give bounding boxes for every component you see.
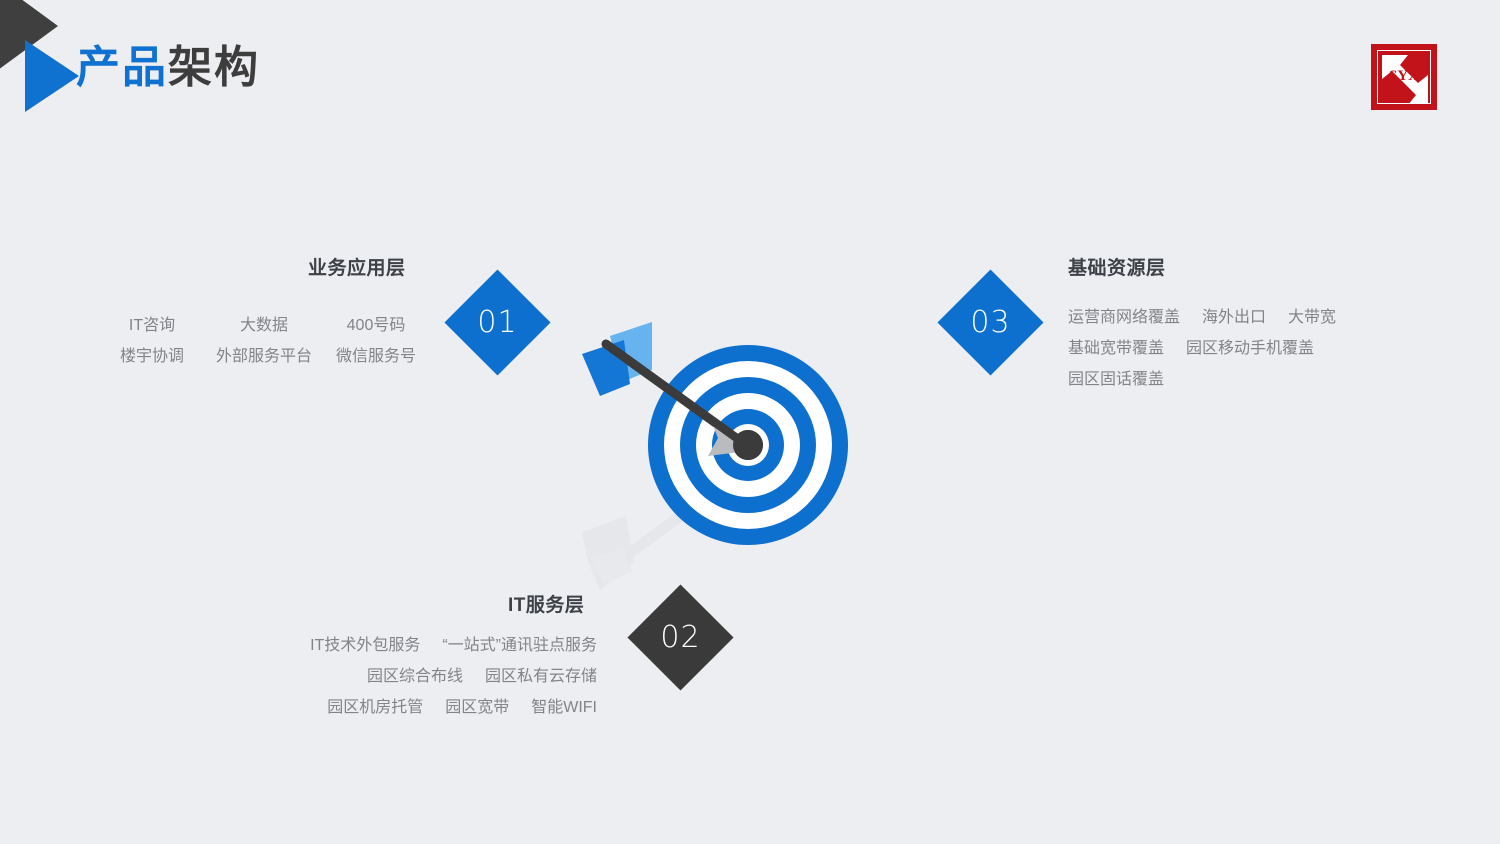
corner-decoration — [0, 0, 70, 130]
list-item: IT技术外包服务 — [310, 630, 420, 661]
item-row: 运营商网络覆盖海外出口大带宽 — [1068, 302, 1358, 333]
item-row: 园区综合布线园区私有云存储 — [197, 661, 597, 692]
list-item: 海外出口 — [1202, 302, 1266, 333]
section-title-01: 业务应用层 — [308, 253, 406, 280]
badge-diamond-01[interactable]: 01 — [444, 269, 550, 375]
list-item: 园区固话覆盖 — [1068, 364, 1164, 395]
logo-inner: SYX — [1377, 50, 1431, 104]
slide-root: 产品架构 SYX — [0, 0, 1500, 844]
list-item: 智能WIFI — [531, 692, 597, 723]
badge-diamond-03[interactable]: 03 — [937, 269, 1043, 375]
company-logo: SYX — [1371, 44, 1437, 110]
item-row: 楼宇协调外部服务平台微信服务号 — [96, 341, 432, 372]
list-item: 园区综合布线 — [367, 661, 463, 692]
list-item: 外部服务平台 — [208, 341, 320, 372]
target-bullseye — [733, 430, 763, 460]
list-item: IT咨询 — [96, 310, 208, 341]
badge-number-01: 01 — [460, 285, 535, 360]
list-item: 大数据 — [208, 310, 320, 341]
list-item: “一站式”通讯驻点服务 — [442, 630, 597, 661]
page-title-rest: 架构 — [168, 43, 260, 92]
list-item: 运营商网络覆盖 — [1068, 302, 1180, 333]
blue-triangle-icon — [25, 40, 79, 112]
list-item: 大带宽 — [1288, 302, 1336, 333]
badge-number-03: 03 — [953, 285, 1028, 360]
item-row: 园区固话覆盖 — [1068, 364, 1358, 395]
item-row: 园区机房托管园区宽带智能WIFI — [197, 692, 597, 723]
list-item: 园区移动手机覆盖 — [1186, 333, 1314, 364]
list-item: 园区宽带 — [445, 692, 509, 723]
page-title-accent: 产品 — [76, 43, 168, 92]
item-row: IT咨询大数据400号码 — [96, 310, 432, 341]
badge-diamond-02[interactable]: 02 — [627, 584, 733, 690]
logo-text: SYX — [1378, 68, 1430, 85]
arrow-fletching-icon — [582, 322, 652, 396]
list-item: 楼宇协调 — [96, 341, 208, 372]
section-items-02: IT技术外包服务“一站式”通讯驻点服务 园区综合布线园区私有云存储 园区机房托管… — [197, 630, 597, 723]
list-item: 400号码 — [320, 310, 432, 341]
list-item: 园区私有云存储 — [485, 661, 597, 692]
page-title: 产品架构 — [76, 46, 260, 90]
list-item: 微信服务号 — [320, 341, 432, 372]
item-row: IT技术外包服务“一站式”通讯驻点服务 — [197, 630, 597, 661]
target-with-arrow-illustration — [560, 300, 890, 610]
list-item: 园区机房托管 — [327, 692, 423, 723]
badge-number-02: 02 — [643, 600, 718, 675]
section-title-02: IT服务层 — [508, 590, 584, 617]
list-item: 基础宽带覆盖 — [1068, 333, 1164, 364]
section-items-03: 运营商网络覆盖海外出口大带宽 基础宽带覆盖园区移动手机覆盖 园区固话覆盖 — [1068, 302, 1358, 395]
section-items-01: IT咨询大数据400号码 楼宇协调外部服务平台微信服务号 — [96, 310, 432, 372]
section-title-03: 基础资源层 — [1068, 253, 1166, 280]
item-row: 基础宽带覆盖园区移动手机覆盖 — [1068, 333, 1358, 364]
